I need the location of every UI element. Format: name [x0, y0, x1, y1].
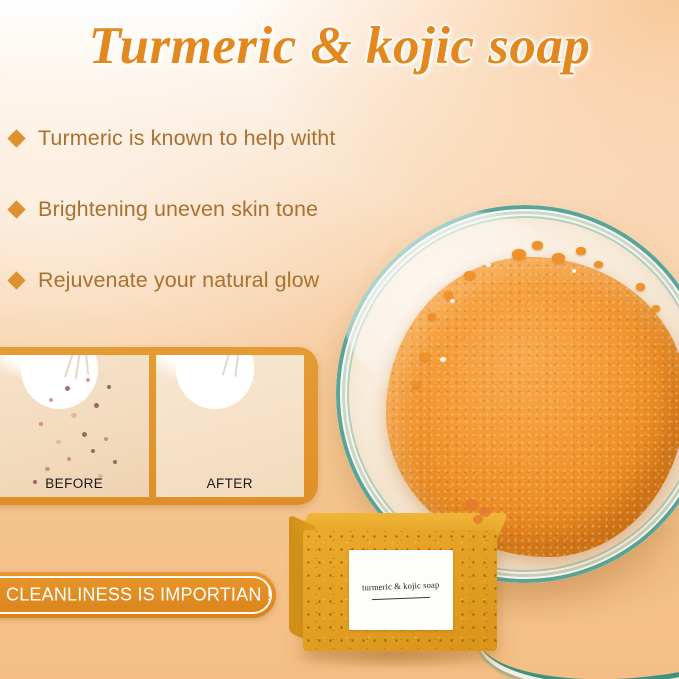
after-photo: AFTER: [156, 355, 305, 497]
after-label: AFTER: [156, 476, 305, 491]
blemish: [82, 432, 87, 437]
powder-crumb: [594, 261, 603, 268]
before-photo: BEFORE: [0, 355, 149, 497]
soap-bar-product: turmeric & kojic soap: [289, 513, 497, 653]
list-item: Turmeric is known to help witht: [10, 126, 430, 151]
powder-sparkle: [486, 263, 491, 267]
powder-crumb: [428, 313, 436, 320]
powder-crumb: [412, 381, 420, 388]
powder-sparkle: [572, 269, 576, 273]
powder-crumb: [576, 247, 586, 255]
diamond-bullet-icon: [7, 271, 25, 289]
powder-sparkle: [440, 357, 446, 362]
dried-flower-icon: [465, 499, 479, 510]
soap-label-rule: [372, 597, 430, 600]
powder-crumb: [420, 353, 430, 361]
powder-texture: [386, 257, 679, 557]
page-title: Turmeric & kojic soap: [0, 16, 679, 76]
list-item-label: Brightening uneven skin tone: [38, 197, 318, 222]
blemish: [113, 460, 117, 464]
blemish: [49, 398, 53, 402]
before-after-panel: BEFORE AFTER: [0, 347, 318, 505]
before-label: BEFORE: [0, 476, 149, 491]
diamond-bullet-icon: [7, 129, 25, 147]
blemish: [45, 467, 50, 471]
powder-crumb: [636, 283, 645, 291]
turmeric-powder-mound: [386, 257, 679, 557]
powder-crumb: [652, 305, 660, 312]
list-item-label: Turmeric is known to help witht: [38, 126, 335, 151]
powder-crumb: [464, 271, 475, 280]
banner-text: CLEANLINESS IS IMPORTIAN !: [6, 585, 272, 606]
powder-crumb: [552, 253, 565, 263]
blemish: [107, 385, 111, 389]
powder-sparkle: [450, 299, 455, 303]
soap-label: turmeric & kojic soap: [349, 550, 453, 630]
powder-crumb: [532, 241, 543, 250]
soap-front-face: turmeric & kojic soap: [303, 530, 497, 651]
cleanliness-banner: CLEANLINESS IS IMPORTIAN !: [0, 572, 276, 618]
diamond-bullet-icon: [7, 200, 25, 218]
list-item-label: Rejuvenate your natural glow: [38, 268, 319, 293]
blemish: [91, 449, 95, 453]
blemish: [94, 403, 99, 408]
blemish: [39, 422, 43, 426]
powder-crumb: [444, 291, 453, 299]
soap-label-text: turmeric & kojic soap: [362, 580, 440, 593]
dried-flower-icon: [473, 515, 483, 524]
powder-crumb: [512, 249, 526, 260]
product-poster: Turmeric & kojic soap Turmeric is known …: [0, 0, 679, 679]
blemish: [86, 378, 90, 382]
